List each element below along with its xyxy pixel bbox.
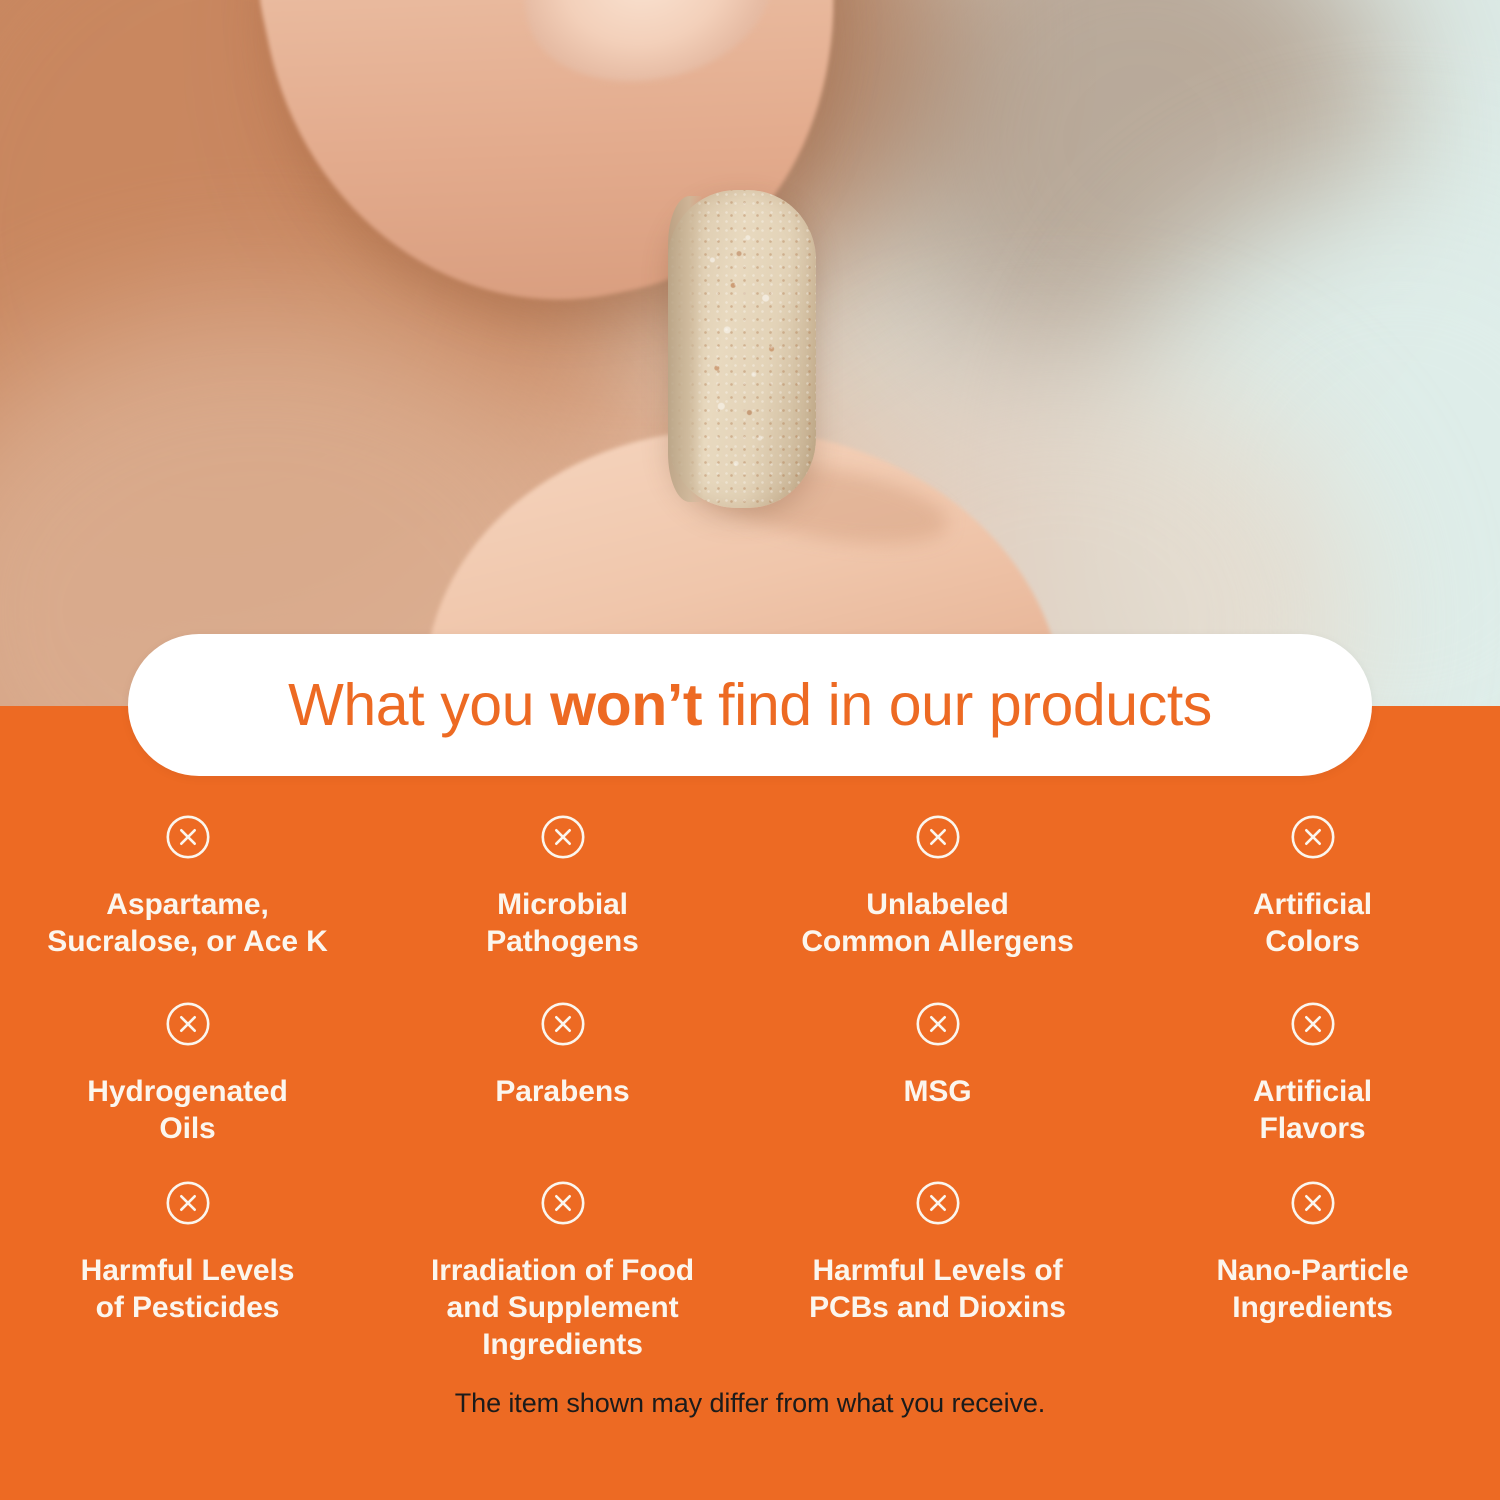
list-item: Parabens: [375, 993, 750, 1172]
circle-x-icon: [540, 1001, 586, 1047]
list-item: MicrobialPathogens: [375, 806, 750, 993]
list-item: ArtificialFlavors: [1125, 993, 1500, 1172]
circle-x-icon: [540, 814, 586, 860]
page-title-part-after: find in our products: [702, 672, 1212, 738]
page-title-emphasis: won’t: [550, 672, 702, 738]
circle-x-icon: [1290, 1001, 1336, 1047]
page-title: What you won’t find in our products: [288, 676, 1212, 735]
list-item-label: Parabens: [495, 1073, 629, 1110]
circle-x-icon: [165, 1001, 211, 1047]
page-title-part-before: What you: [288, 672, 550, 738]
circle-x-icon: [915, 1001, 961, 1047]
circle-x-icon: [915, 814, 961, 860]
hero-photo: [0, 0, 1500, 706]
list-item-label: Aspartame,Sucralose, or Ace K: [47, 886, 327, 960]
list-item-label: MSG: [903, 1073, 971, 1110]
list-item: HydrogenatedOils: [0, 993, 375, 1172]
list-item-label: Harmful Levelsof Pesticides: [81, 1252, 295, 1326]
list-item-label: ArtificialFlavors: [1253, 1073, 1372, 1147]
list-item: ArtificialColors: [1125, 806, 1500, 993]
circle-x-icon: [1290, 1180, 1336, 1226]
footer: The item shown may differ from what you …: [0, 1388, 1500, 1419]
excluded-ingredients-grid: Aspartame,Sucralose, or Ace K MicrobialP…: [0, 806, 1500, 1370]
infographic-page: What you won’t find in our products Aspa…: [0, 0, 1500, 1500]
list-item: Irradiation of Foodand SupplementIngredi…: [375, 1172, 750, 1370]
circle-x-icon: [915, 1180, 961, 1226]
list-item: Harmful Levels ofPCBs and Dioxins: [750, 1172, 1125, 1370]
tablet-side-edge: [668, 196, 704, 502]
list-item-label: Nano-ParticleIngredients: [1216, 1252, 1408, 1326]
disclaimer-text: The item shown may differ from what you …: [455, 1388, 1045, 1418]
list-item: UnlabeledCommon Allergens: [750, 806, 1125, 993]
list-item: Harmful Levelsof Pesticides: [0, 1172, 375, 1370]
circle-x-icon: [540, 1180, 586, 1226]
list-item-label: Irradiation of Foodand SupplementIngredi…: [431, 1252, 694, 1364]
list-item: Nano-ParticleIngredients: [1125, 1172, 1500, 1370]
list-item-label: HydrogenatedOils: [87, 1073, 288, 1147]
list-item-label: ArtificialColors: [1253, 886, 1372, 960]
list-item-label: MicrobialPathogens: [486, 886, 638, 960]
list-item: Aspartame,Sucralose, or Ace K: [0, 806, 375, 993]
circle-x-icon: [1290, 814, 1336, 860]
headline-pill: What you won’t find in our products: [128, 634, 1372, 776]
circle-x-icon: [165, 1180, 211, 1226]
circle-x-icon: [165, 814, 211, 860]
list-item: MSG: [750, 993, 1125, 1172]
list-item-label: UnlabeledCommon Allergens: [801, 886, 1073, 960]
list-item-label: Harmful Levels ofPCBs and Dioxins: [809, 1252, 1066, 1326]
